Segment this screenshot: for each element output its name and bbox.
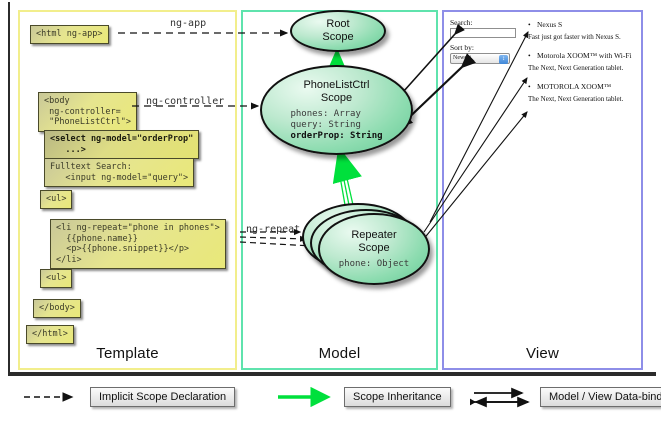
- repeater-scope-title-line1: Repeater: [351, 229, 396, 242]
- list-item[interactable]: Motorola XOOM™ with Wi-Fi The Next, Next…: [528, 51, 638, 73]
- li-repeat-tag-box: <li ng-repeat="phone in phones"> {{phone…: [50, 219, 226, 269]
- legend-model-view-data-binding-label: Model / View Data-binding: [540, 387, 661, 407]
- body-tag-box: <body ng-controller= "PhoneListCtrl">: [38, 92, 137, 132]
- search-label: Search:: [450, 18, 522, 27]
- solid-green-arrow-icon: [274, 384, 336, 410]
- panel-view-title: View: [444, 345, 641, 362]
- body-close-tag-box: </body>: [33, 299, 81, 318]
- legend-implicit-scope-declaration: Implicit Scope Declaration: [20, 382, 235, 412]
- view-browser-content: Search: Sort by: Newest ↕ Nexus S Fast j…: [444, 12, 641, 342]
- dashed-black-arrow-icon: [20, 384, 82, 410]
- root-scope-title-line2: Scope: [322, 31, 353, 44]
- html-close-tag-box: </html>: [26, 325, 74, 344]
- legend: Implicit Scope Declaration Scope Inherit…: [8, 382, 656, 418]
- panel-template-title: Template: [20, 345, 235, 362]
- ul-open-tag-box: <ul>: [40, 190, 72, 209]
- phone-name: Motorola XOOM™ with Wi-Fi: [528, 51, 638, 60]
- search-input[interactable]: [450, 28, 516, 38]
- phone-list: Nexus S Fast just got faster with Nexus …: [528, 20, 638, 113]
- phone-name: Nexus S: [528, 20, 638, 29]
- frame-bottom-rule: [8, 374, 656, 376]
- phonelistctrl-scope-properties: phones: Array query: String orderProp: S…: [290, 109, 382, 142]
- view-search-form: Search: Sort by: Newest ↕: [450, 18, 522, 64]
- root-scope-title-line1: Root: [326, 18, 349, 31]
- panel-model-title: Model: [243, 345, 436, 362]
- scope-prop-phones: phones: Array: [290, 109, 382, 120]
- legend-implicit-scope-declaration-label: Implicit Scope Declaration: [90, 387, 235, 407]
- sort-by-select[interactable]: Newest ↕: [450, 53, 510, 64]
- repeater-scope-title-line2: Scope: [358, 242, 389, 255]
- scope-prop-orderprop: orderProp: String: [290, 131, 382, 141]
- panel-model: Model: [241, 10, 438, 370]
- select-tag-box: <select ng-model="orderProp" ...>: [44, 130, 199, 159]
- ng-app-label: ng-app: [170, 18, 206, 29]
- html-tag-box: <html ng-app>: [30, 25, 109, 44]
- phonelistctrl-scope-title-line1: PhoneListCtrl: [303, 79, 369, 92]
- sort-by-selected-value: Newest: [453, 55, 471, 61]
- legend-model-view-data-binding: Model / View Data-binding: [470, 382, 661, 412]
- phonelistctrl-scope-title-line2: Scope: [321, 92, 352, 105]
- repeater-scope-properties: phone: Object: [339, 259, 409, 270]
- sort-by-label: Sort by:: [450, 43, 522, 52]
- diagram-root: Template Model View <html ng-app> <body …: [0, 0, 661, 425]
- chevron-down-icon: ↕: [499, 55, 508, 64]
- phonelistctrl-scope: PhoneListCtrl Scope phones: Array query:…: [260, 65, 413, 155]
- root-scope: Root Scope: [290, 10, 386, 52]
- scope-prop-query: query: String: [290, 120, 382, 131]
- double-black-arrow-icon: [470, 384, 532, 410]
- scope-prop-phone: phone: Object: [339, 259, 409, 270]
- phone-snippet: Fast just got faster with Nexus S.: [528, 33, 638, 42]
- list-item[interactable]: MOTOROLA XOOM™ The Next, Next Generation…: [528, 82, 638, 104]
- repeater-scope: Repeater Scope phone: Object: [318, 213, 430, 285]
- legend-scope-inheritance-label: Scope Inheritance: [344, 387, 451, 407]
- list-item[interactable]: Nexus S Fast just got faster with Nexus …: [528, 20, 638, 42]
- ul-close-tag-box: <ul>: [40, 269, 72, 288]
- phone-name: MOTOROLA XOOM™: [528, 82, 638, 91]
- ng-repeat-label: ng-repeat: [246, 224, 300, 235]
- phone-snippet: The Next, Next Generation tablet.: [528, 64, 638, 73]
- ng-controller-label: ng-controller: [146, 96, 224, 107]
- phone-snippet: The Next, Next Generation tablet.: [528, 95, 638, 104]
- input-tag-box: Fulltext Search: <input ng-model="query"…: [44, 158, 194, 187]
- legend-scope-inheritance: Scope Inheritance: [274, 382, 451, 412]
